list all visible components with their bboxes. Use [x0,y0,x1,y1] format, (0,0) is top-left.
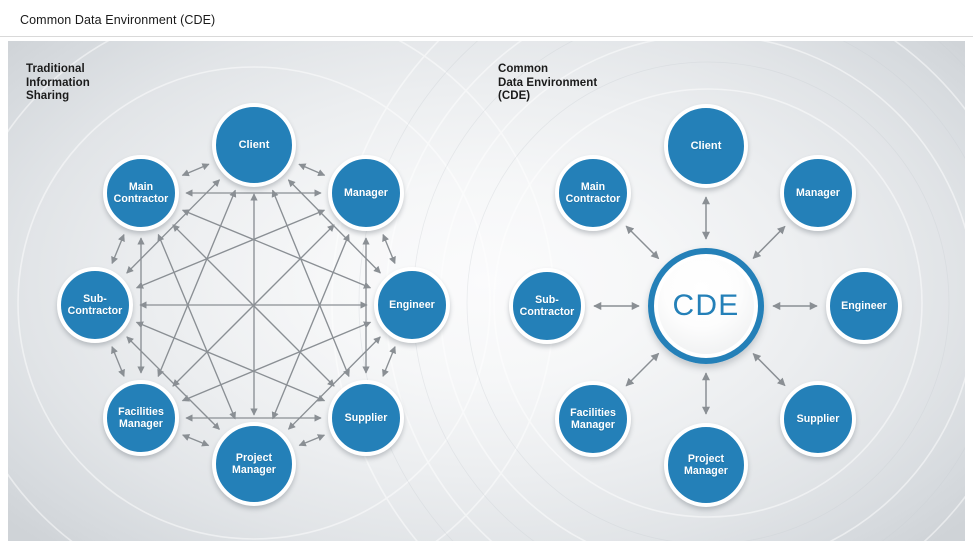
heading-traditional-information-sharing: Traditional Information Sharing [26,63,90,104]
node-label: Facilities Manager [570,407,616,431]
node-manager[interactable]: Manager [328,155,404,231]
connector-arrow [383,347,395,377]
node-manager[interactable]: Manager [780,155,856,231]
connector-arrow [383,235,395,264]
connector-arrow [182,164,209,175]
connector-arrow [626,226,658,258]
connector-arrow [626,353,658,385]
node-sub-contractor[interactable]: Sub- Contractor [57,267,133,343]
node-label: Supplier [345,412,388,424]
node-label: Project Manager [684,453,728,477]
connector-arrow [112,235,124,264]
connector-arrow [112,347,124,377]
node-engineer[interactable]: Engineer [374,267,450,343]
node-main-contractor[interactable]: Main Contractor [555,155,631,231]
node-supplier[interactable]: Supplier [780,381,856,457]
node-project-manager[interactable]: Project Manager [664,423,748,507]
node-label: Sub- Contractor [520,294,575,318]
cde-slide: Common Data Environment (CDE) [0,0,973,553]
diagram-canvas: Traditional Information Sharing Common D… [8,41,965,541]
connector-arrows-layer [8,41,965,541]
node-label: Client [239,139,270,151]
node-label: Engineer [389,299,435,311]
connector-arrow [753,354,785,386]
heading-common-data-environment: Common Data Environment (CDE) [498,63,597,104]
node-client[interactable]: Client [664,104,748,188]
node-main-contractor[interactable]: Main Contractor [103,155,179,231]
node-label: Main Contractor [114,181,169,205]
node-label: Supplier [797,413,840,425]
node-project-manager[interactable]: Project Manager [212,422,296,506]
page-title: Common Data Environment (CDE) [20,13,215,27]
node-label: Manager [796,187,840,199]
window-titlebar: Common Data Environment (CDE) [0,4,973,37]
connector-arrow [299,435,324,445]
node-client[interactable]: Client [212,103,296,187]
connector-arrow [753,226,785,258]
hub-label: CDE [673,291,740,321]
node-label: Manager [344,187,388,199]
node-label: Engineer [841,300,887,312]
connector-arrow [183,435,209,446]
node-facilities-manager[interactable]: Facilities Manager [555,381,631,457]
node-sub-contractor[interactable]: Sub- Contractor [509,268,585,344]
node-supplier[interactable]: Supplier [328,380,404,456]
hub-cde-hub[interactable]: CDE [648,248,764,364]
node-engineer[interactable]: Engineer [826,268,902,344]
node-label: Facilities Manager [118,406,164,430]
connector-arrow [299,164,325,175]
connector-arrow [158,190,235,376]
node-facilities-manager[interactable]: Facilities Manager [103,380,179,456]
node-label: Sub- Contractor [68,293,123,317]
node-label: Project Manager [232,452,276,476]
connector-arrow [158,235,235,419]
node-label: Client [691,140,722,152]
node-label: Main Contractor [566,181,621,205]
